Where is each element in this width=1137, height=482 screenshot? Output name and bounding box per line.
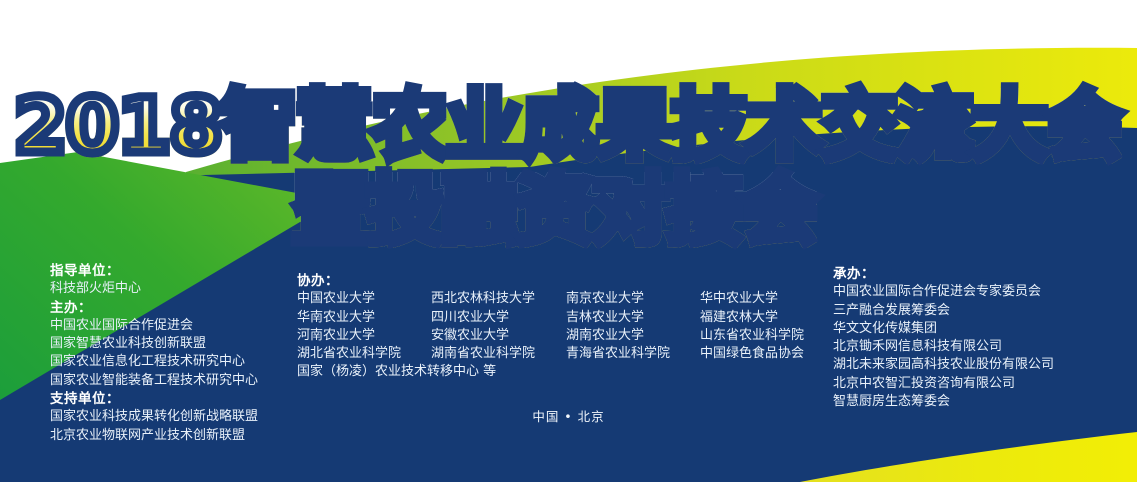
coorg-cell: 湖南农业大学 — [566, 327, 700, 345]
coorg-cell: 吉林农业大学 — [566, 309, 700, 327]
guide-line-1-1: 国家智慧农业科技创新联盟 — [50, 335, 258, 353]
coorg-cell: 中国绿色食品协会 — [700, 345, 804, 363]
coorg-cell: 南京农业大学 — [566, 290, 700, 308]
coorg-row: 湖北省农业科学院 湖南省农业科学院 青海省农业科学院 中国绿色食品协会 — [297, 345, 804, 363]
coorg-rows: 中国农业大学 西北农林科技大学 南京农业大学 华中农业大学 华南农业大学 四川农… — [297, 290, 804, 381]
coorg-cell: 中国农业大学 — [297, 290, 431, 308]
guide-line-1-3: 国家农业智能装备工程技术研究中心 — [50, 372, 258, 390]
guide-heading-1: 主办： — [50, 299, 258, 317]
column-coorganizers: 协办： 中国农业大学 西北农林科技大学 南京农业大学 华中农业大学 华南农业大学… — [297, 272, 804, 382]
coorg-cell: 华中农业大学 — [700, 290, 778, 308]
host-line: 湖北未来家园高科技农业股份有限公司 — [833, 356, 1054, 374]
guide-line-0-0: 科技部火炬中心 — [50, 280, 258, 298]
column-host: 承办： 中国农业国际合作促进会专家委员会 三产融合发展筹委会 华文文化传媒集团 … — [833, 265, 1054, 411]
guide-line-1-0: 中国农业国际合作促进会 — [50, 317, 258, 335]
guide-line-1-2: 国家农业信息化工程技术研究中心 — [50, 353, 258, 371]
coorg-cell: 山东省农业科学院 — [700, 327, 804, 345]
coorg-cell: 西北农林科技大学 — [431, 290, 566, 308]
coorg-heading: 协办： — [297, 272, 804, 290]
coorg-cell: 青海省农业科学院 — [566, 345, 700, 363]
coorg-cell: 福建农林大学 — [700, 309, 778, 327]
host-heading: 承办： — [833, 265, 1054, 283]
coorg-cell: 华南农业大学 — [297, 309, 431, 327]
coorg-cell: 国家（杨凌）农业技术转移中心 等 — [297, 363, 496, 381]
coorg-cell: 四川农业大学 — [431, 309, 566, 327]
host-line: 北京锄禾网信息科技有限公司 — [833, 338, 1054, 356]
coorg-row: 河南农业大学 安徽农业大学 湖南农业大学 山东省农业科学院 — [297, 327, 804, 345]
coorg-row: 华南农业大学 四川农业大学 吉林农业大学 福建农林大学 — [297, 309, 804, 327]
host-line: 华文文化传媒集团 — [833, 320, 1054, 338]
coorg-row: 国家（杨凌）农业技术转移中心 等 — [297, 363, 804, 381]
coorg-cell: 河南农业大学 — [297, 327, 431, 345]
coorg-cell: 湖南省农业科学院 — [431, 345, 566, 363]
guide-heading-0: 指导单位： — [50, 262, 258, 280]
host-line: 中国农业国际合作促进会专家委员会 — [833, 283, 1054, 301]
coorg-row: 中国农业大学 西北农林科技大学 南京农业大学 华中农业大学 — [297, 290, 804, 308]
guide-line-2-1: 北京农业物联网产业技术创新联盟 — [50, 427, 258, 445]
city-label: 中国 • 北京 — [0, 406, 1137, 425]
coorg-cell: 安徽农业大学 — [431, 327, 566, 345]
conference-poster: 2018智慧农业成果技术交流大会 暨投融资对接会 指导单位： 科技部火炬中心 主… — [0, 0, 1137, 482]
host-line: 北京中农智汇投资咨询有限公司 — [833, 375, 1054, 393]
coorg-cell: 湖北省农业科学院 — [297, 345, 431, 363]
host-line: 三产融合发展筹委会 — [833, 302, 1054, 320]
